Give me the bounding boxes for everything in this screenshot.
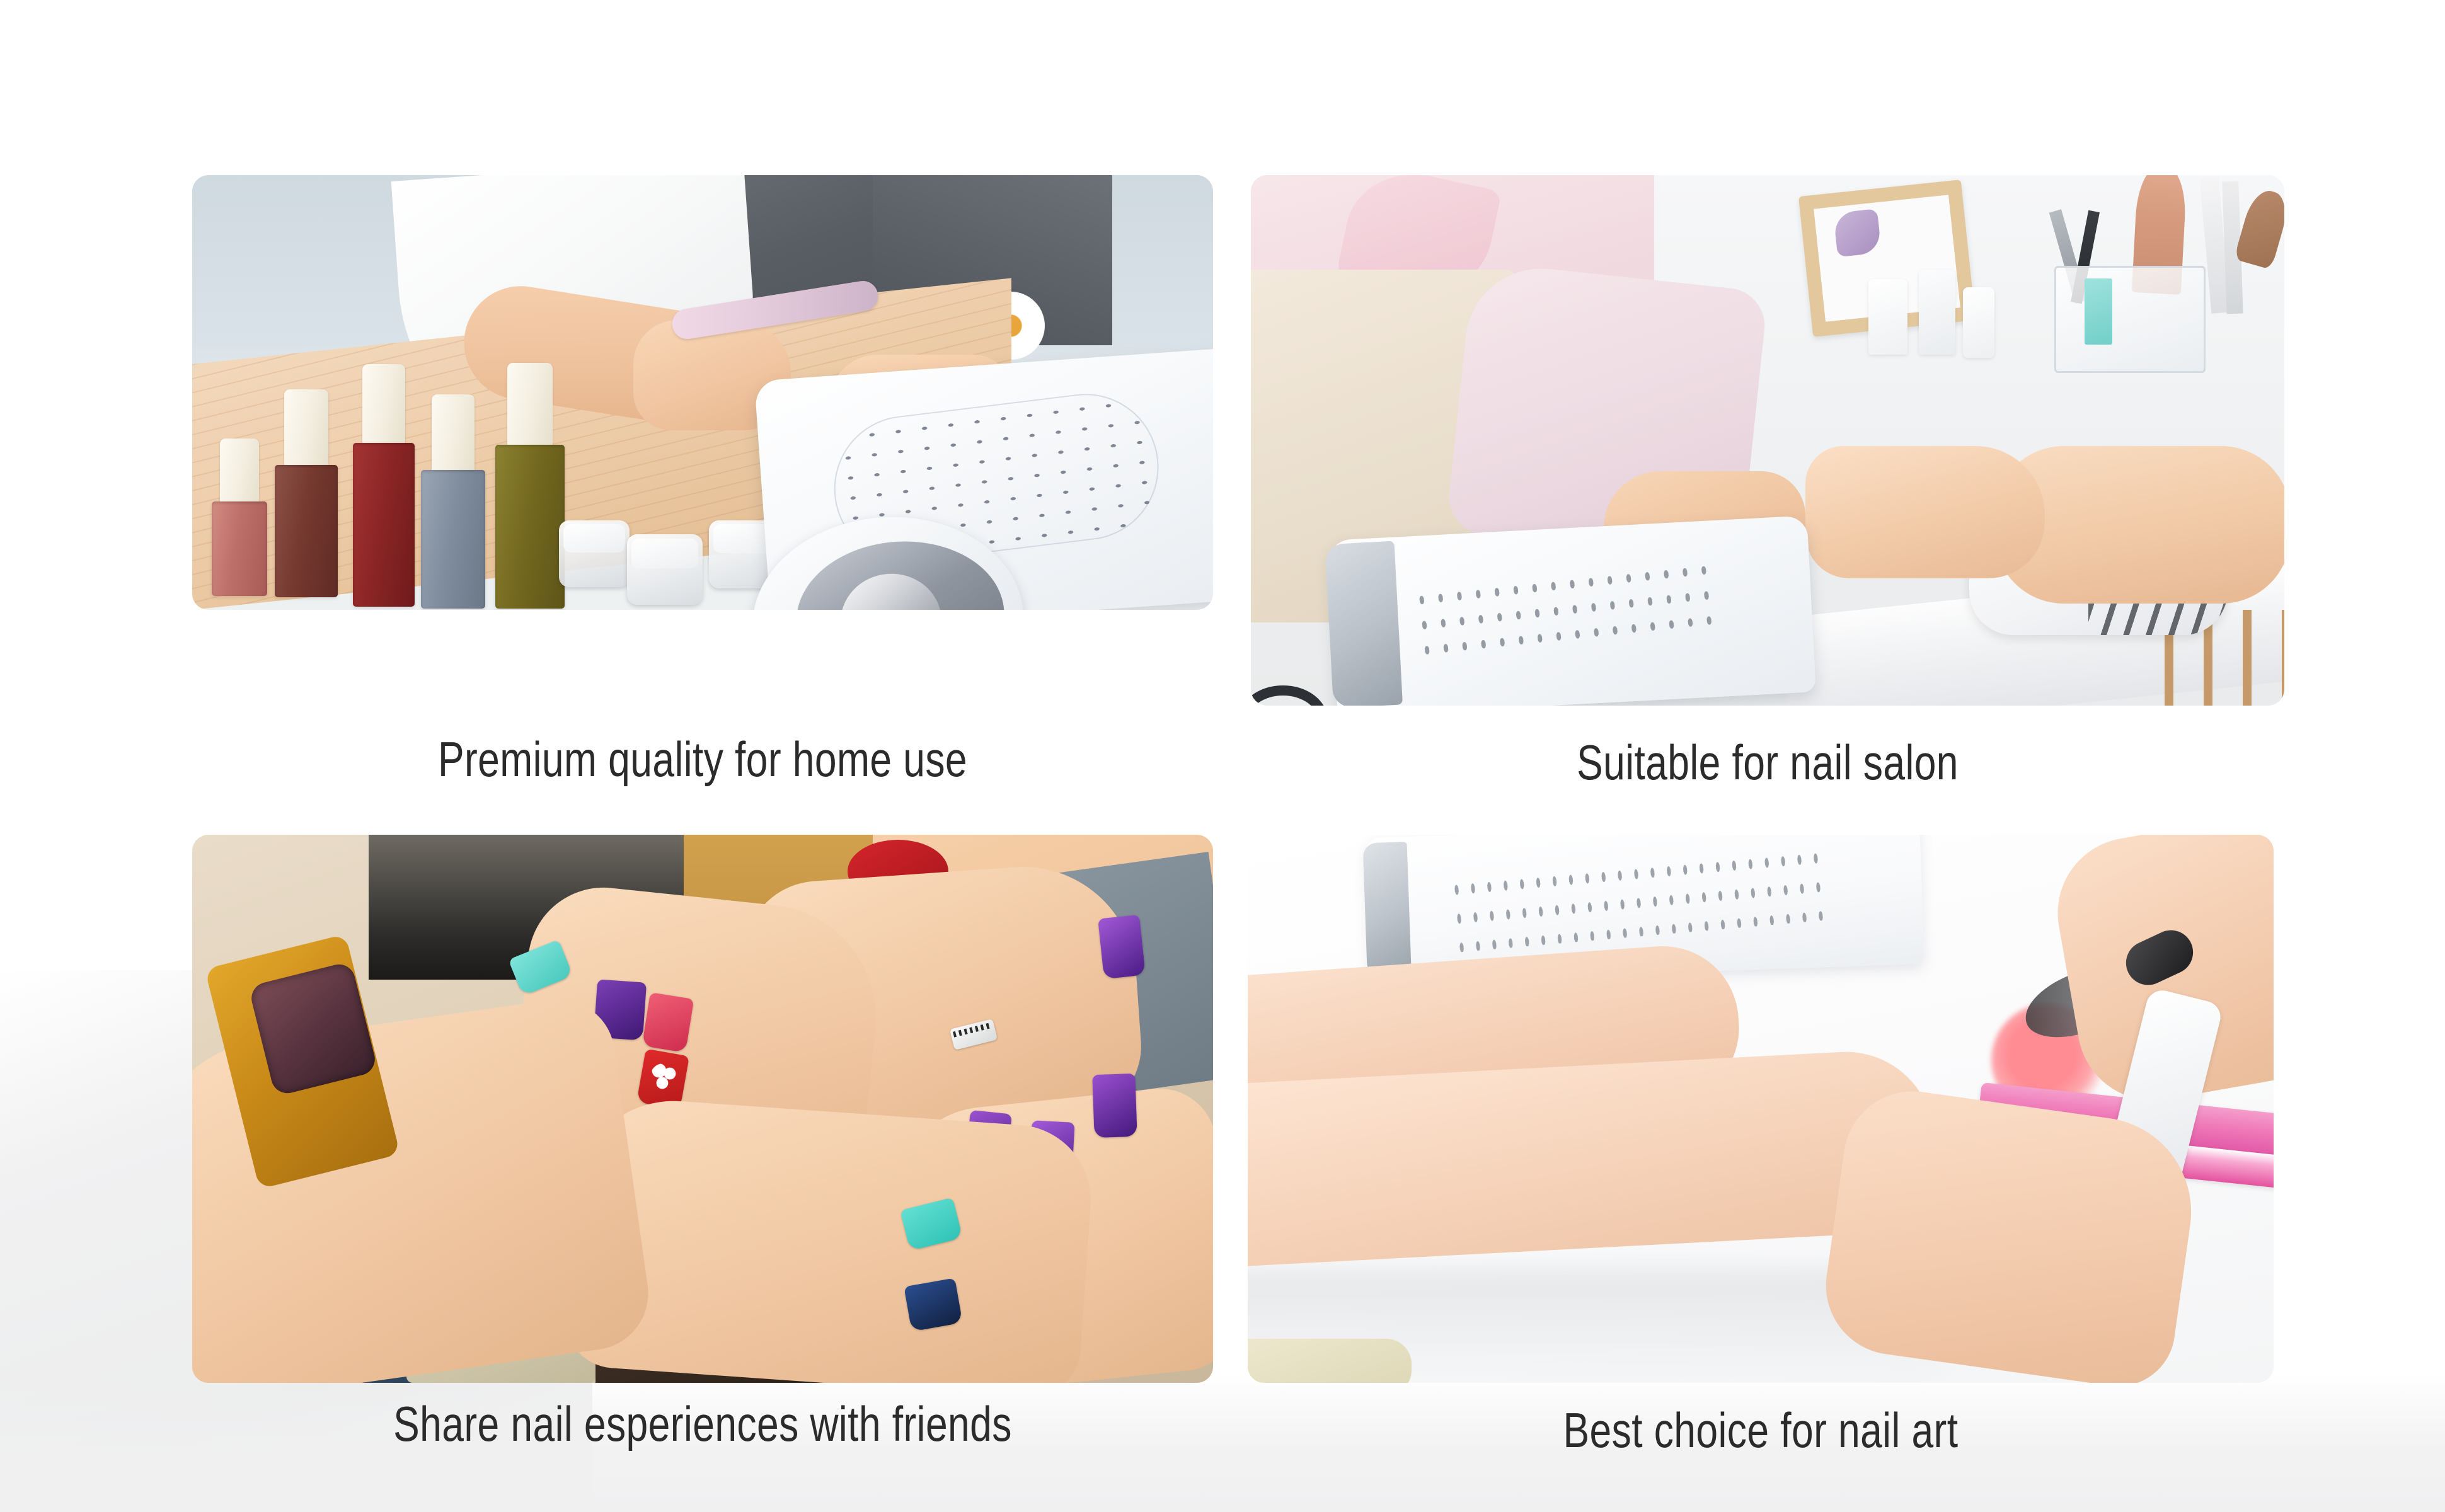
cream-object <box>1248 1339 1412 1383</box>
nail-dust-collector <box>754 348 1213 610</box>
dust-collector-side-cap <box>1363 842 1412 976</box>
painted-nail-blue <box>904 1278 962 1331</box>
jar-lid <box>631 539 698 568</box>
polish-body <box>353 443 415 607</box>
nail-polish-bottle <box>268 389 345 597</box>
caption-nail-art: Best choice for nail art <box>1350 1402 2171 1459</box>
organizer-box <box>2054 266 2206 373</box>
dust-collector-side-cap <box>1325 541 1403 706</box>
brush-organizer <box>2035 175 2284 379</box>
jar-lid <box>563 524 626 553</box>
nail-polish-bottle <box>414 394 492 609</box>
polish-cap <box>220 438 259 505</box>
product-bottle <box>1963 287 1994 358</box>
polish-cap <box>284 389 328 468</box>
makeup-brush <box>2234 186 2284 270</box>
nail-dust-collector <box>1328 515 1816 706</box>
card-image-nail-art[interactable] <box>1248 835 2274 1383</box>
frame-artwork <box>1833 209 1882 257</box>
teal-tool <box>2085 278 2112 345</box>
nail-polish-bottle <box>346 364 422 607</box>
product-bottle <box>1868 279 1907 355</box>
polish-body <box>495 445 565 609</box>
card-image-nail-salon[interactable] <box>1251 175 2284 706</box>
painted-nail-purple <box>1092 1074 1137 1138</box>
painted-nail-pink <box>642 992 694 1053</box>
client-hand <box>1805 446 2045 578</box>
painted-nail-purple <box>1098 915 1146 979</box>
polish-cap <box>432 394 475 473</box>
card-image-home-use[interactable] <box>192 175 1213 610</box>
polish-body <box>275 465 338 597</box>
polish-body <box>212 501 267 596</box>
polish-cap <box>507 363 553 448</box>
hand <box>561 1094 1096 1383</box>
nail-polish-bottle <box>205 438 274 596</box>
feature-card-grid: Premium quality for home use <box>0 0 2445 1512</box>
caption-home-use: Premium quality for home use <box>294 731 1111 788</box>
cream-jar <box>559 520 630 587</box>
product-bottle <box>1919 270 1955 355</box>
polish-cap <box>362 364 405 446</box>
cream-jar <box>627 534 703 605</box>
card-image-share-with-friends[interactable] <box>192 835 1213 1383</box>
polish-body <box>421 470 485 609</box>
caption-share-with-friends: Share nail esperiences with friends <box>294 1395 1111 1453</box>
caption-nail-salon: Suitable for nail salon <box>1354 734 2181 791</box>
